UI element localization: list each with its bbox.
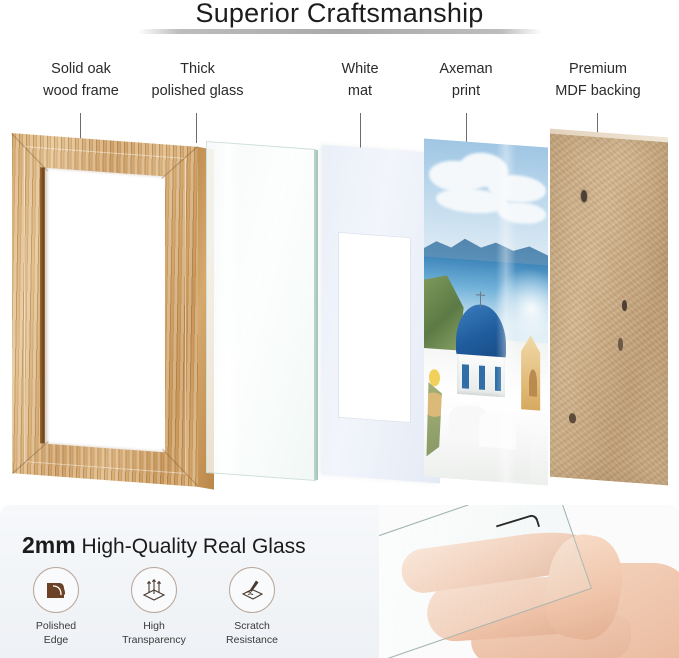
photo-dome-cross [480,291,482,307]
callout-label-wood-frame: Solid oak wood frame [18,58,144,103]
photo-sheen [496,144,516,483]
mat-window-cutout [338,232,411,423]
photo-church-window [462,364,468,388]
polished-edge-icon [33,567,79,613]
glass-feature-list: Polished Edge High Transparency [14,567,294,647]
glass-headline-text: High-Quality Real Glass [82,535,306,558]
feature-polished-edge: Polished Edge [14,567,98,647]
glass-headline: 2mm High-Quality Real Glass [22,532,306,559]
exploded-frame-diagram [0,125,679,490]
mdf-hardware-mark [622,300,627,311]
header: Superior Craftsmanship [0,0,679,44]
feature-high-transparency: High Transparency [112,567,196,647]
feature-label: Scratch Resistance [210,619,294,647]
high-transparency-icon [131,567,177,613]
callout-label-backing: Premium MDF backing [528,58,668,103]
layer-white-mat [322,145,440,484]
scratch-resistance-icon [229,567,275,613]
layer-oak-frame [12,133,198,487]
layer-photo-print [424,138,548,485]
feature-label: Polished Edge [14,619,98,647]
callout-label-mat: White mat [310,58,410,103]
mdf-top-edge [550,129,668,143]
feature-scratch-resistance: Scratch Resistance [210,567,294,647]
glass-thickness: 2mm [22,532,76,558]
title-underline [138,29,542,34]
callout-label-print: Axeman print [416,58,516,103]
glass-reflection [216,143,240,475]
layer-glass-panel [206,141,316,481]
mdf-hardware-mark [618,337,623,350]
mdf-hardware-mark [569,413,576,424]
hand-holding-glass-photo [379,505,679,658]
callout-label-glass: Thick polished glass [140,58,255,103]
glass-quality-section: 2mm High-Quality Real Glass Polished Edg… [0,505,679,658]
photo-bell-arch [529,369,536,397]
page-title: Superior Craftsmanship [0,0,679,29]
glass-edge [314,150,318,480]
oak-frame-opening [45,168,165,453]
photo-church-window [479,366,485,390]
feature-label: High Transparency [112,619,196,647]
photo-yellow-accent [429,369,440,387]
layer-mdf-backing [550,133,668,486]
mdf-hardware-mark [581,190,587,202]
